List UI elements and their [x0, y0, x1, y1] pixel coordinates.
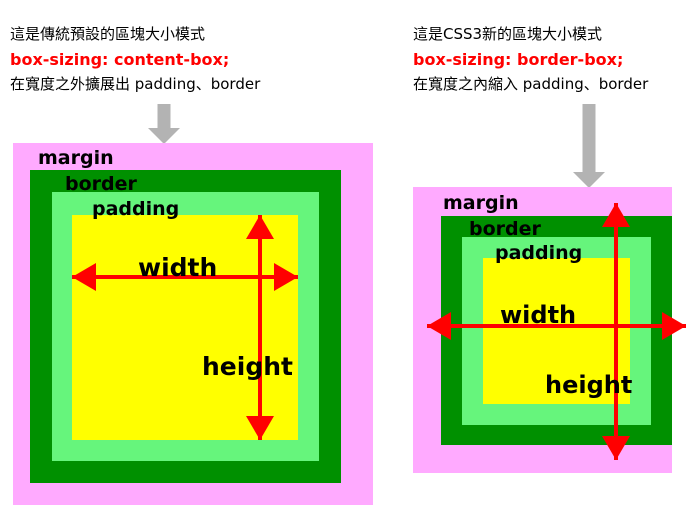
- arrow-head-right: [662, 312, 686, 340]
- padding-label: padding: [92, 200, 179, 219]
- width-label: width: [138, 253, 217, 282]
- height-measure-arrow: [246, 215, 274, 440]
- arrow-bar: [614, 203, 618, 460]
- arrow-head-down: [602, 436, 630, 460]
- heading-line-code: box-sizing: content-box;: [10, 47, 410, 72]
- heading-line-description: 這是CSS3新的區塊大小模式: [413, 22, 700, 47]
- content-box-panel: 這是傳統預設的區塊大小模式 box-sizing: content-box; 在…: [0, 0, 400, 514]
- height-label: height: [202, 352, 293, 381]
- arrow-head-right: [274, 263, 298, 291]
- arrow-shaft: [583, 104, 596, 172]
- heading-line-note: 在寬度之外擴展出 padding、border: [10, 72, 410, 97]
- border-box-heading: 這是CSS3新的區塊大小模式 box-sizing: border-box; 在…: [413, 22, 700, 97]
- border-label: border: [65, 175, 137, 194]
- arrow-head-left: [427, 312, 451, 340]
- border-label: border: [469, 220, 541, 239]
- arrow-bar: [258, 215, 262, 440]
- margin-label: margin: [443, 194, 519, 213]
- heading-line-description: 這是傳統預設的區塊大小模式: [10, 22, 410, 47]
- arrow-head: [573, 172, 605, 188]
- arrow-head-up: [602, 203, 630, 227]
- height-measure-arrow: [602, 203, 630, 460]
- content-box-heading: 這是傳統預設的區塊大小模式 box-sizing: content-box; 在…: [10, 22, 410, 97]
- heading-line-note: 在寬度之內縮入 padding、border: [413, 72, 700, 97]
- arrow-head-left: [72, 263, 96, 291]
- heading-line-code: box-sizing: border-box;: [413, 47, 700, 72]
- arrow-head: [148, 128, 180, 144]
- down-arrow-icon: [148, 104, 180, 144]
- arrow-head-down: [246, 416, 274, 440]
- margin-label: margin: [38, 149, 114, 168]
- width-label: width: [500, 301, 576, 329]
- down-arrow-icon: [573, 104, 605, 188]
- arrow-shaft: [158, 104, 171, 128]
- height-label: height: [545, 371, 632, 399]
- padding-label: padding: [495, 244, 582, 263]
- arrow-head-up: [246, 215, 274, 239]
